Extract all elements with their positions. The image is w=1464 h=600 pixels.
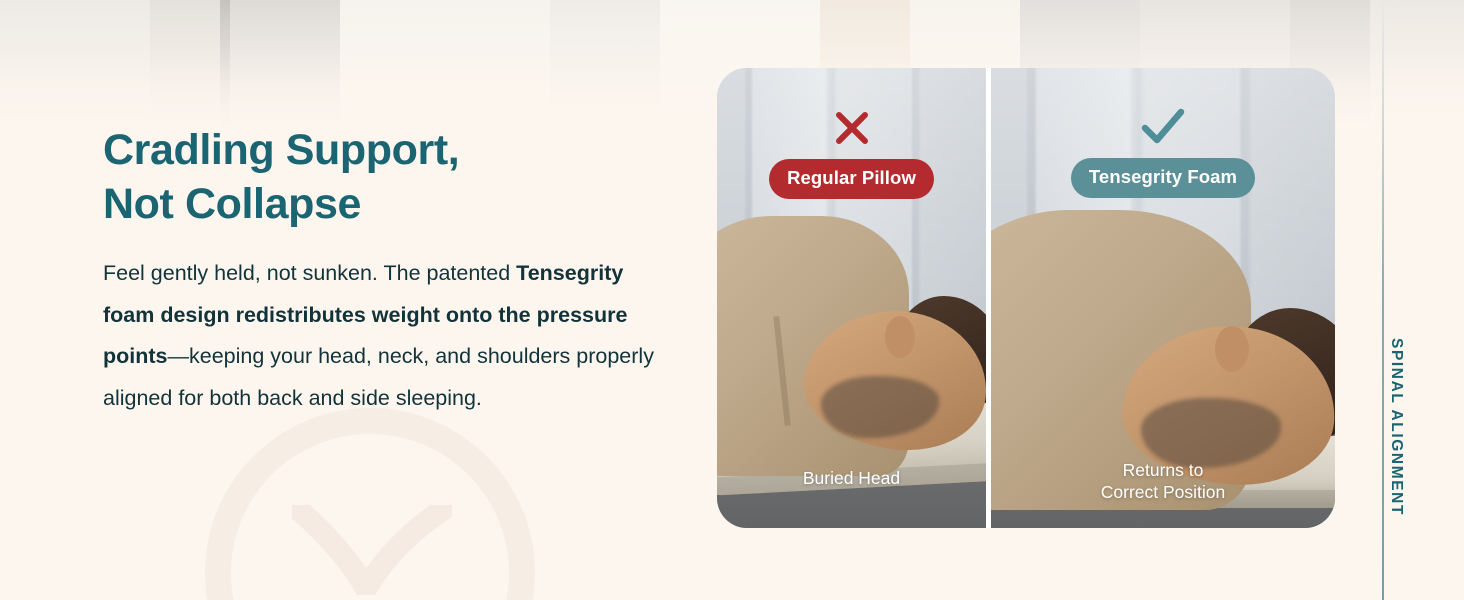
vertical-divider <box>1382 0 1384 600</box>
caption-line-1: Returns to <box>991 460 1335 482</box>
card-caption-tensegrity-foam: Returns to Correct Position <box>991 460 1335 503</box>
brand-watermark-check-icon <box>292 505 452 595</box>
card-caption-regular-pillow: Buried Head <box>717 468 986 490</box>
caption-line-2: Correct Position <box>991 482 1335 504</box>
paragraph-tail: —keeping your head, neck, and shoulders … <box>103 344 654 410</box>
rail-label-spinal-alignment: SPINAL ALIGNMENT <box>1387 338 1405 516</box>
badge-row-tensegrity-foam: Tensegrity Foam <box>991 158 1335 198</box>
headline-line-1: Cradling Support, <box>103 126 459 174</box>
comparison-card-tensegrity-foam[interactable]: Tensegrity Foam Returns to Correct Posit… <box>991 68 1335 528</box>
card-photo-regular-pillow <box>717 68 986 528</box>
comparison-cards: Regular Pillow Buried Head <box>717 68 1335 528</box>
paragraph-lead: Feel gently held, not sunken. The patent… <box>103 261 516 285</box>
badge-row-regular-pillow: Regular Pillow <box>717 159 986 199</box>
status-badge-regular-pillow: Regular Pillow <box>769 159 934 199</box>
status-badge-tensegrity-foam: Tensegrity Foam <box>1071 158 1255 198</box>
copy-block: Cradling Support, Not Collapse Feel gent… <box>103 123 683 419</box>
brand-watermark-circle <box>205 408 535 600</box>
card-photo-tensegrity-foam <box>991 68 1335 528</box>
comparison-card-regular-pillow[interactable]: Regular Pillow Buried Head <box>717 68 986 528</box>
headline-line-2: Not Collapse <box>103 177 683 231</box>
feature-section: Cradling Support, Not Collapse Feel gent… <box>0 0 1464 600</box>
caption-line-1: Buried Head <box>717 468 986 490</box>
page-title: Cradling Support, Not Collapse <box>103 123 683 231</box>
body-paragraph: Feel gently held, not sunken. The patent… <box>103 253 663 419</box>
